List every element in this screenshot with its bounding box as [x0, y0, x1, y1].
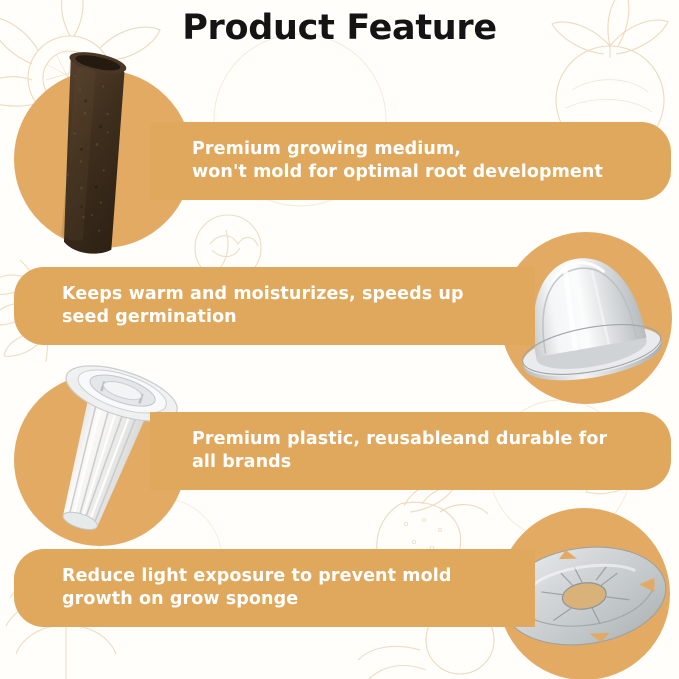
feature-bar-3: Premium plastic, reusableand durable for…: [150, 412, 671, 490]
feature-text-4: Reduce light exposure to prevent mold gr…: [62, 565, 451, 611]
page-title: Product Feature: [0, 8, 679, 48]
feature-bar-1: Premium growing medium, won't mold for o…: [150, 122, 671, 200]
feature-text-2: Keeps warm and moisturizes, speeds up se…: [62, 283, 464, 329]
feature-bar-2: Keeps warm and moisturizes, speeds up se…: [14, 267, 535, 345]
feature-bar-4: Reduce light exposure to prevent mold gr…: [14, 549, 535, 627]
feature-text-1: Premium growing medium, won't mold for o…: [192, 138, 603, 184]
feature-text-3: Premium plastic, reusableand durable for…: [192, 428, 607, 474]
infographic-canvas: Product Feature: [0, 0, 679, 679]
